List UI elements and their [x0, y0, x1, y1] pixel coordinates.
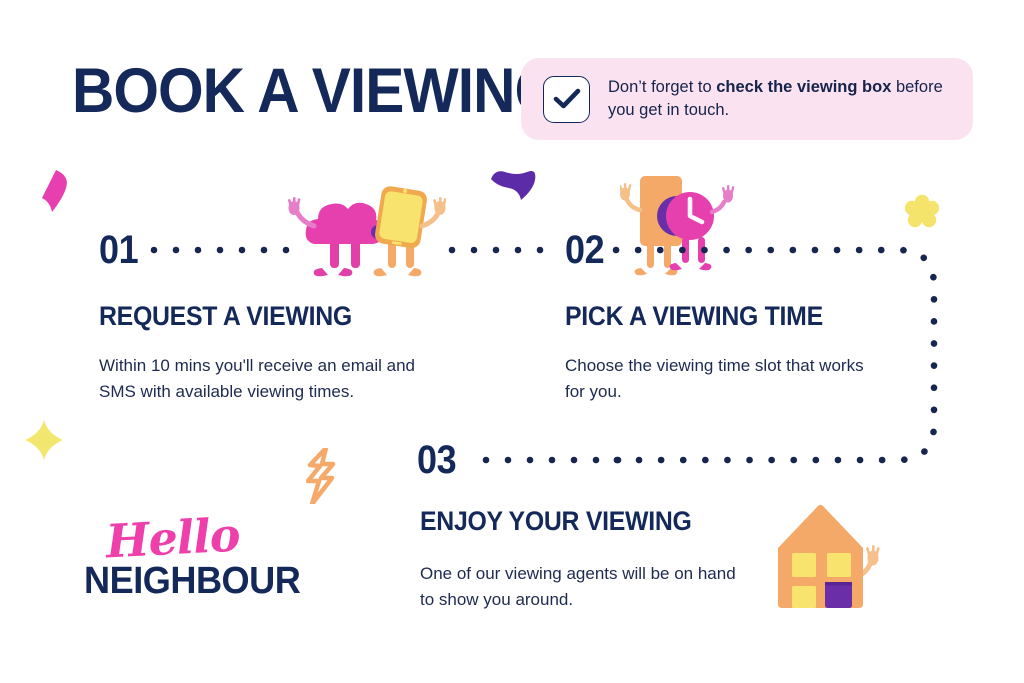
step-body-02: Choose the viewing time slot that works … [565, 353, 875, 406]
dotted-connector-step1-left [150, 243, 290, 257]
step-body-03: One of our viewing agents will be on han… [420, 561, 750, 614]
step-number-03: 03 [417, 440, 456, 480]
dotted-connector-step1-right [448, 243, 548, 257]
step-number-02: 02 [565, 230, 604, 270]
callout-box: Don’t forget to check the viewing box be… [521, 58, 973, 140]
step-title-03: ENJOY YOUR VIEWING [420, 508, 692, 535]
step-title-01: REQUEST A VIEWING [99, 303, 352, 330]
house-waving-illustration [770, 500, 890, 612]
person-with-phone-illustration [278, 182, 446, 282]
infographic-canvas: BOOK A VIEWING Don’t forget to check the… [0, 0, 1024, 683]
callout-text: Don’t forget to check the viewing box be… [608, 76, 951, 122]
step-body-01: Within 10 mins you'll receive an email a… [99, 353, 419, 406]
page-title: BOOK A VIEWING [72, 60, 559, 123]
yellow-star-shape [25, 420, 63, 460]
checkbox-checked-icon[interactable] [543, 76, 590, 123]
logo-block-word: NEIGHBOUR [84, 562, 300, 600]
step-title-02: PICK A VIEWING TIME [565, 303, 823, 330]
orange-lightning-shape [306, 448, 336, 504]
callout-text-bold: check the viewing box [716, 78, 891, 96]
dotted-connector-step3 [482, 453, 622, 467]
purple-arrow-shape [489, 168, 537, 202]
callout-text-lead: Don’t forget to [608, 78, 716, 96]
pink-comma-shape [34, 168, 74, 216]
yellow-flower-shape [905, 194, 939, 228]
step-number-01: 01 [99, 230, 138, 270]
logo-script-word: Hello [105, 512, 241, 565]
